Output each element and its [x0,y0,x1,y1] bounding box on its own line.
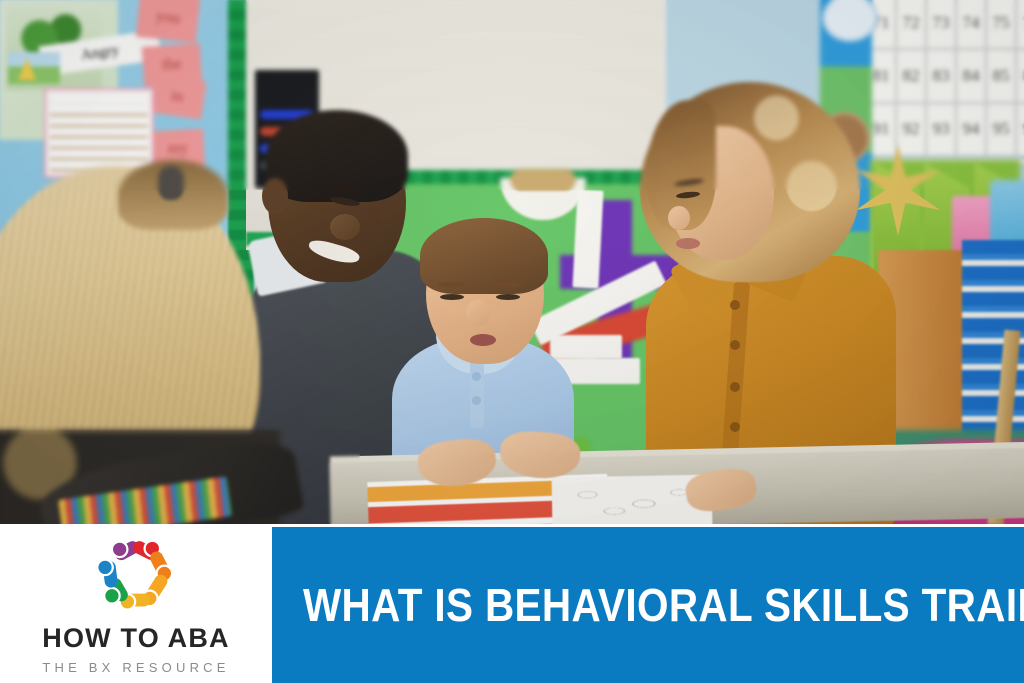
depth-of-field-blur-foreground [0,430,360,524]
eye [440,294,464,300]
shirt-button [730,340,740,350]
polo-button [472,396,481,405]
shirt-button [730,422,740,432]
nose [330,214,360,240]
brand-lockup[interactable]: HOW TO ABA THE BX RESOURCE [0,524,272,683]
banner-title-text: WHAT IS BEHAVIORAL SKILLS TRAINING? [303,578,1024,632]
eyebrow [494,282,522,287]
how-to-aba-logo-icon[interactable] [91,533,181,619]
nose [668,206,690,230]
polo-button [472,372,481,381]
shirt-button [730,382,740,392]
mouth [470,334,496,346]
display-label [550,335,622,359]
eye [496,294,520,300]
eyebrow [438,282,466,287]
nose [466,300,490,326]
brand-name: HOW TO ABA [42,625,230,652]
lips [676,238,700,249]
brand-tagline: THE BX RESOURCE [42,661,229,674]
classroom-photo: Angry you the in my 71 72 73 74 75 76 81… [0,0,1024,524]
display-label [572,189,603,288]
poster-page: Angry you the in my 71 72 73 74 75 76 81… [0,0,1024,683]
shirt-button [730,300,740,310]
title-banner: WHAT IS BEHAVIORAL SKILLS TRAINING? [272,527,1024,683]
footer-bar: HOW TO ABA THE BX RESOURCE WHAT IS BEHAV… [0,524,1024,683]
depth-of-field-blur-top [0,0,1024,190]
